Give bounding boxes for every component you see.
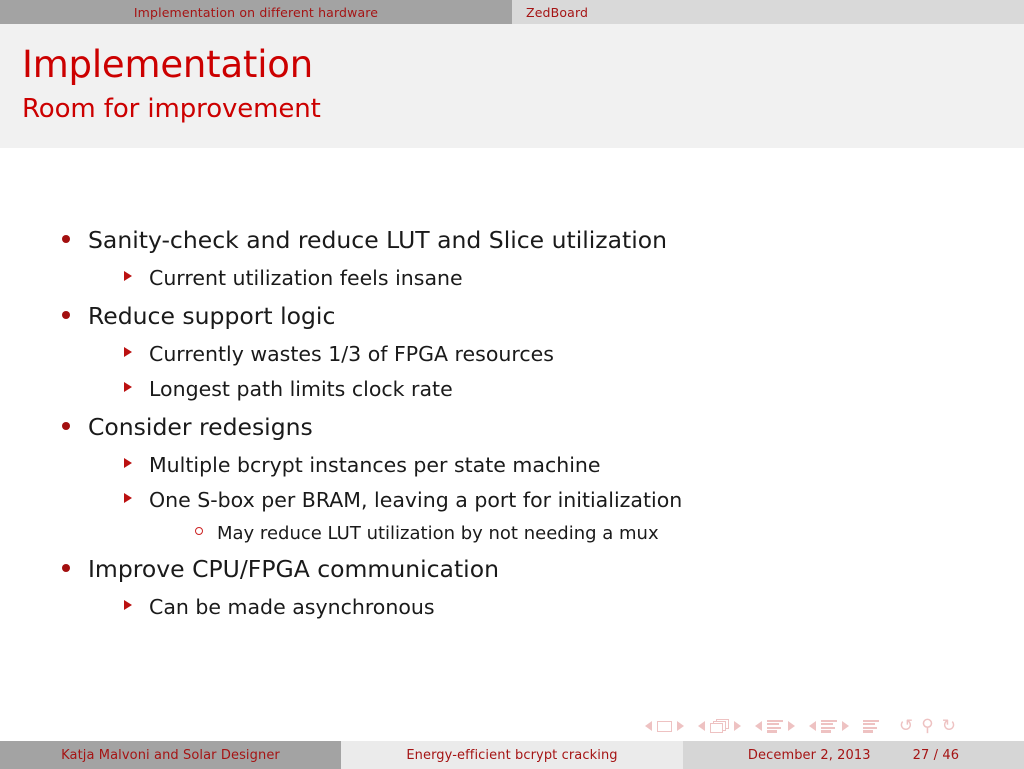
slide-navigation-group xyxy=(645,721,684,732)
prev-subsection-arrow-icon[interactable] xyxy=(755,721,762,731)
list-item: Longest path limits clock rate xyxy=(62,372,962,407)
header-section-label: Implementation on different hardware xyxy=(134,5,378,20)
bullet-triangle-icon xyxy=(124,381,149,400)
bullet-list: Sanity-check and reduce LUT and Slice ut… xyxy=(62,220,962,625)
list-item: Currently wastes 1/3 of FPGA resources xyxy=(62,337,962,372)
slide-body: Sanity-check and reduce LUT and Slice ut… xyxy=(0,148,1024,711)
presentation-navigation-group xyxy=(863,720,879,733)
bullet-triangle-icon xyxy=(124,492,149,511)
list-item-label: May reduce LUT utilization by not needin… xyxy=(217,518,659,549)
slide-title: Implementation xyxy=(22,46,1024,85)
list-item-label: Reduce support logic xyxy=(88,296,335,337)
footline: Katja Malvoni and Solar Designer Energy-… xyxy=(0,741,1024,769)
next-frame-arrow-icon[interactable] xyxy=(734,721,741,731)
bullet-triangle-icon xyxy=(124,599,149,618)
next-subsection-arrow-icon[interactable] xyxy=(788,721,795,731)
list-item: Improve CPU/FPGA communication xyxy=(62,549,962,590)
prev-section-arrow-icon[interactable] xyxy=(809,721,816,731)
list-item: Can be made asynchronous xyxy=(62,590,962,625)
list-item-label: Multiple bcrypt instances per state mach… xyxy=(149,448,601,483)
list-item-label: Current utilization feels insane xyxy=(149,261,463,296)
slide-subtitle: Room for improvement xyxy=(22,95,1024,124)
list-item-label: Can be made asynchronous xyxy=(149,590,435,625)
bullet-dot-icon xyxy=(62,562,88,581)
frames-icon[interactable] xyxy=(710,719,729,734)
list-item: Reduce support logic xyxy=(62,296,962,337)
footer-date-label: December 2, 2013 xyxy=(748,748,871,763)
back-icon[interactable]: ↺ xyxy=(899,718,913,735)
bullet-triangle-icon xyxy=(124,457,149,476)
list-item-label: One S-box per BRAM, leaving a port for i… xyxy=(149,483,682,518)
slide-icon[interactable] xyxy=(657,721,672,732)
list-item: Current utilization feels insane xyxy=(62,261,962,296)
bullet-triangle-icon xyxy=(124,346,149,365)
header-section-tab[interactable]: Implementation on different hardware xyxy=(0,0,512,24)
search-icon[interactable]: ⚲ xyxy=(921,718,933,735)
header-subsection-tab[interactable]: ZedBoard xyxy=(512,0,1024,24)
prev-slide-arrow-icon[interactable] xyxy=(645,721,652,731)
footer-page-number: 27 / 46 xyxy=(913,748,959,763)
beamer-navigation-symbols: ↺ ⚲ ↻ xyxy=(645,714,1015,738)
list-item: May reduce LUT utilization by not needin… xyxy=(62,518,962,549)
footer-title-cell: Energy-efficient bcrypt cracking xyxy=(341,741,683,769)
subsection-navigation-group xyxy=(755,720,795,733)
list-item: Multiple bcrypt instances per state mach… xyxy=(62,448,962,483)
bullet-dot-icon xyxy=(62,309,88,328)
list-item: Consider redesigns xyxy=(62,407,962,448)
prev-frame-arrow-icon[interactable] xyxy=(698,721,705,731)
footer-author-label: Katja Malvoni and Solar Designer xyxy=(61,748,280,763)
header-navigation-bar: Implementation on different hardware Zed… xyxy=(0,0,1024,24)
slide-title-block: Implementation Room for improvement xyxy=(0,24,1024,148)
header-subsection-label: ZedBoard xyxy=(526,5,588,20)
footer-date-cell: December 2, 2013 27 / 46 xyxy=(683,741,1024,769)
list-item-label: Consider redesigns xyxy=(88,407,313,448)
bullet-dot-icon xyxy=(62,233,88,252)
footer-author-cell: Katja Malvoni and Solar Designer xyxy=(0,741,341,769)
frame-navigation-group xyxy=(698,719,741,734)
history-navigation-group: ↺ ⚲ ↻ xyxy=(899,718,959,735)
section-navigation-group xyxy=(809,720,849,733)
bullet-circle-icon xyxy=(195,524,217,543)
bullet-triangle-icon xyxy=(124,270,149,289)
subsection-icon[interactable] xyxy=(767,720,783,733)
presentation-icon[interactable] xyxy=(863,720,879,733)
forward-icon[interactable]: ↻ xyxy=(942,718,956,735)
list-item-label: Longest path limits clock rate xyxy=(149,372,453,407)
next-section-arrow-icon[interactable] xyxy=(842,721,849,731)
list-item: One S-box per BRAM, leaving a port for i… xyxy=(62,483,962,518)
footer-title-label: Energy-efficient bcrypt cracking xyxy=(406,748,617,763)
list-item-label: Currently wastes 1/3 of FPGA resources xyxy=(149,337,554,372)
section-icon[interactable] xyxy=(821,720,837,733)
list-item-label: Sanity-check and reduce LUT and Slice ut… xyxy=(88,220,667,261)
list-item: Sanity-check and reduce LUT and Slice ut… xyxy=(62,220,962,261)
bullet-dot-icon xyxy=(62,420,88,439)
list-item-label: Improve CPU/FPGA communication xyxy=(88,549,499,590)
next-slide-arrow-icon[interactable] xyxy=(677,721,684,731)
